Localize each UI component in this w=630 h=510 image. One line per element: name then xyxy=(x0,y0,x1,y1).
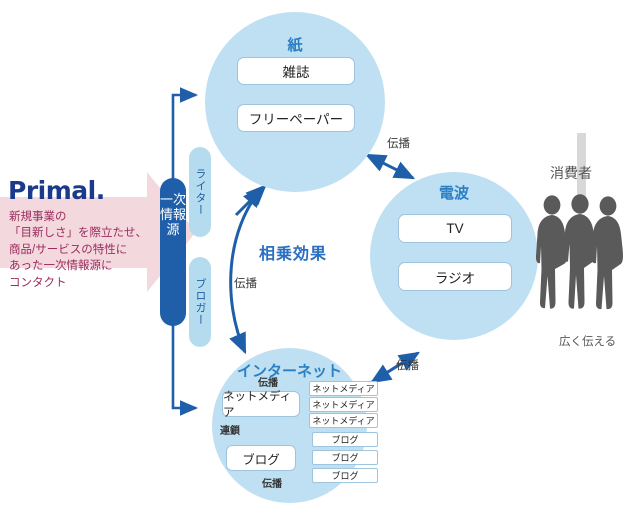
role-capsule-blogger: ブロガー xyxy=(189,257,211,347)
node-blog-leaf: ブログ xyxy=(312,432,378,447)
person-silhouette-middle xyxy=(563,194,595,308)
circle-title-airwave: 電波 xyxy=(370,182,538,203)
person-silhouette-left xyxy=(536,195,567,308)
role-capsule-writer: ライター xyxy=(189,147,211,237)
label-densen-netmedia: 伝播 xyxy=(258,374,278,389)
primal-logo: Primal. xyxy=(8,176,105,205)
node-netmedia-leaf: ネットメディア xyxy=(309,381,378,396)
media-item-radio: ラジオ xyxy=(398,262,512,291)
primal-description: 新規事業の 「目新しさ」を際立たせ、 商品/サービスの特性に あった一次情報源に… xyxy=(9,209,149,291)
label-densen-airwave-internet: 伝播 xyxy=(396,357,419,373)
node-netmedia-leaf: ネットメディア xyxy=(309,397,378,412)
media-circle-airwave: 電波 TV ラジオ xyxy=(370,172,538,340)
node-netmedia-leaf: ネットメディア xyxy=(309,413,378,428)
media-item-free-paper: フリーペーパー xyxy=(237,104,355,132)
role-blogger-label: ブロガー xyxy=(192,278,208,326)
circle-title-paper: 紙 xyxy=(205,34,385,55)
label-densen-paper-airwave: 伝播 xyxy=(387,135,410,151)
primary-source-label: 一次情報源 xyxy=(160,192,186,237)
media-circle-internet: インターネット ネットメディア ブログ ネットメディア ネットメディア ネットメ… xyxy=(212,348,367,503)
media-item-tv: TV xyxy=(398,214,512,243)
label-densen-paper-internet: 伝播 xyxy=(234,275,257,291)
label-synergy: 相乗効果 xyxy=(259,240,327,264)
node-blog-leaf: ブログ xyxy=(312,468,378,483)
role-writer-label: ライター xyxy=(192,168,208,216)
consumer-silhouettes xyxy=(532,190,628,320)
diagram-canvas: Primal. 新規事業の 「目新しさ」を際立たせ、 商品/サービスの特性に あ… xyxy=(0,0,630,510)
label-broadcast-widely: 広く伝える xyxy=(559,333,616,349)
media-circle-paper: 紙 雑誌 フリーペーパー xyxy=(205,12,385,192)
media-item-magazine: 雑誌 xyxy=(237,57,355,85)
node-blog-primary: ブログ xyxy=(226,445,296,471)
label-consumer: 消費者 xyxy=(550,163,592,183)
arrow-paper-internet-synergy xyxy=(231,188,262,352)
person-silhouette-right xyxy=(591,196,623,309)
primary-source-capsule: 一次情報源 xyxy=(160,178,186,326)
node-blog-leaf: ブログ xyxy=(312,450,378,465)
circle-title-internet: インターネット xyxy=(212,360,367,381)
label-densen-blog: 伝播 xyxy=(262,475,282,490)
arrow-paper-airwave xyxy=(367,155,413,178)
label-rensa: 連鎖 xyxy=(220,422,240,437)
node-netmedia-primary: ネットメディア xyxy=(222,391,300,417)
